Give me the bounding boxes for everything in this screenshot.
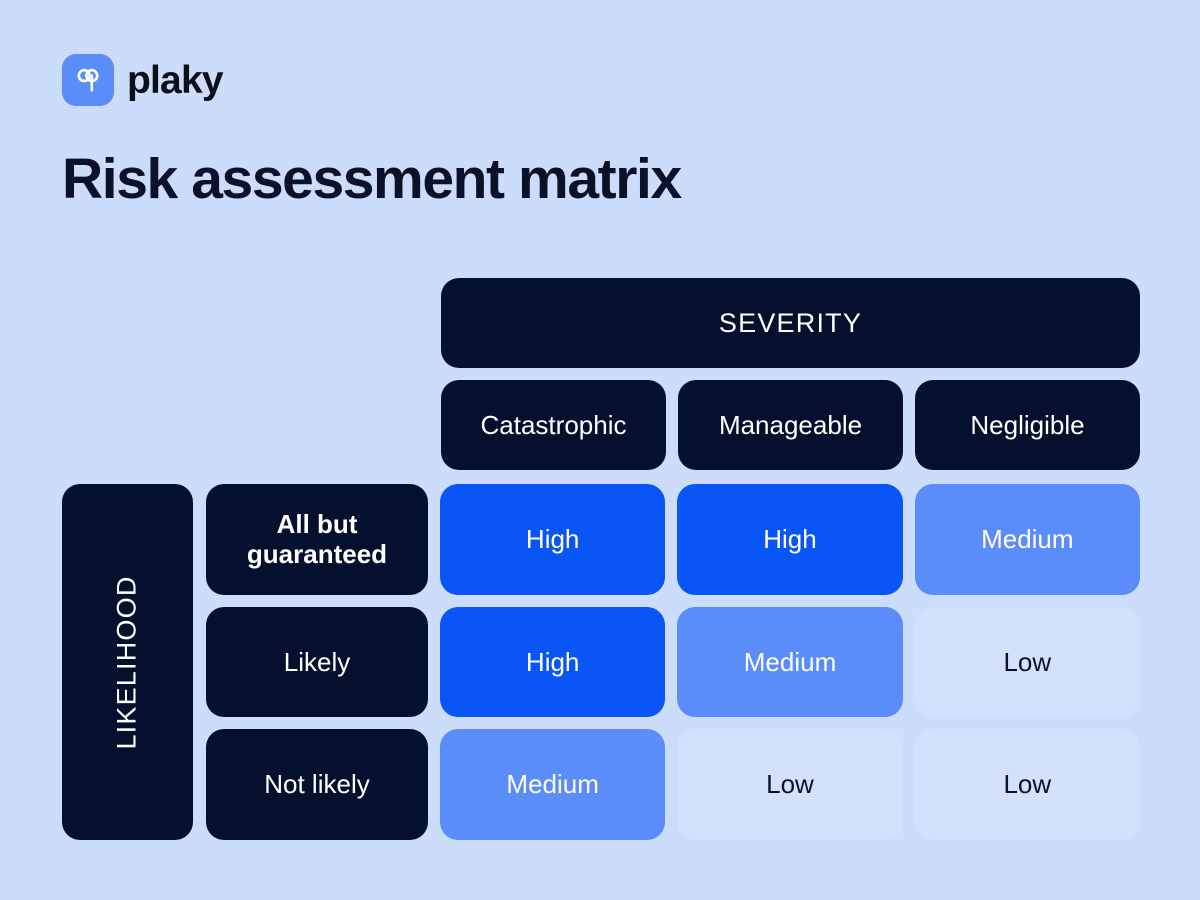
matrix-cell-likely-catastrophic: High: [440, 607, 665, 718]
matrix-row: Not likely Medium Low Low: [206, 729, 1140, 840]
brand-name: plaky: [127, 61, 223, 100]
matrix-cell-guaranteed-catastrophic: High: [440, 484, 665, 595]
matrix-cell-label: Medium: [506, 769, 598, 800]
row-header-likely: Likely: [206, 607, 428, 718]
matrix-cell-label: Medium: [744, 647, 836, 678]
matrix-row: All but guaranteed High High Medium: [206, 484, 1140, 595]
column-header-label: Catastrophic: [481, 410, 627, 441]
matrix-cell-likely-negligible: Low: [915, 607, 1140, 718]
row-header-label: All but guaranteed: [216, 509, 418, 570]
severity-axis-label: SEVERITY: [719, 308, 862, 339]
column-header-label: Negligible: [970, 410, 1084, 441]
page-title: Risk assessment matrix: [62, 148, 681, 211]
brand-logo: plaky: [62, 54, 223, 106]
matrix-body: All but guaranteed High High Medium L: [206, 484, 1140, 840]
matrix-cell-label: High: [526, 647, 579, 678]
matrix-cell-not-likely-negligible: Low: [915, 729, 1140, 840]
poster-canvas: plaky Risk assessment matrix SEVERITY Ca…: [0, 0, 1200, 900]
matrix-cell-label: Low: [766, 769, 814, 800]
likelihood-axis-header: LIKELIHOOD: [62, 484, 193, 840]
matrix-cell-not-likely-catastrophic: Medium: [440, 729, 665, 840]
severity-column-headers: Catastrophic Manageable Negligible: [441, 380, 1140, 470]
row-header-all-but-guaranteed: All but guaranteed: [206, 484, 428, 595]
matrix-row-cells: Medium Low Low: [440, 729, 1140, 840]
column-header-negligible: Negligible: [915, 380, 1140, 470]
matrix-row: Likely High Medium Low: [206, 607, 1140, 718]
matrix-cell-label: High: [526, 524, 579, 555]
likelihood-axis-label: LIKELIHOOD: [112, 575, 143, 749]
matrix-cell-label: Low: [1003, 647, 1051, 678]
severity-axis-header: SEVERITY: [441, 278, 1140, 368]
plaky-logo-icon: [62, 54, 114, 106]
row-header-label: Not likely: [264, 769, 369, 800]
matrix-cell-label: High: [763, 524, 816, 555]
row-header-label: Likely: [284, 647, 350, 678]
risk-matrix: SEVERITY Catastrophic Manageable Negligi…: [62, 278, 1140, 840]
matrix-cell-guaranteed-negligible: Medium: [915, 484, 1140, 595]
column-header-label: Manageable: [719, 410, 862, 441]
row-header-not-likely: Not likely: [206, 729, 428, 840]
matrix-cell-guaranteed-manageable: High: [677, 484, 902, 595]
matrix-cell-label: Medium: [981, 524, 1073, 555]
matrix-cell-not-likely-manageable: Low: [677, 729, 902, 840]
matrix-row-cells: High Medium Low: [440, 607, 1140, 718]
column-header-manageable: Manageable: [678, 380, 903, 470]
matrix-cell-label: Low: [1003, 769, 1051, 800]
column-header-catastrophic: Catastrophic: [441, 380, 666, 470]
matrix-cell-likely-manageable: Medium: [677, 607, 902, 718]
matrix-row-cells: High High Medium: [440, 484, 1140, 595]
